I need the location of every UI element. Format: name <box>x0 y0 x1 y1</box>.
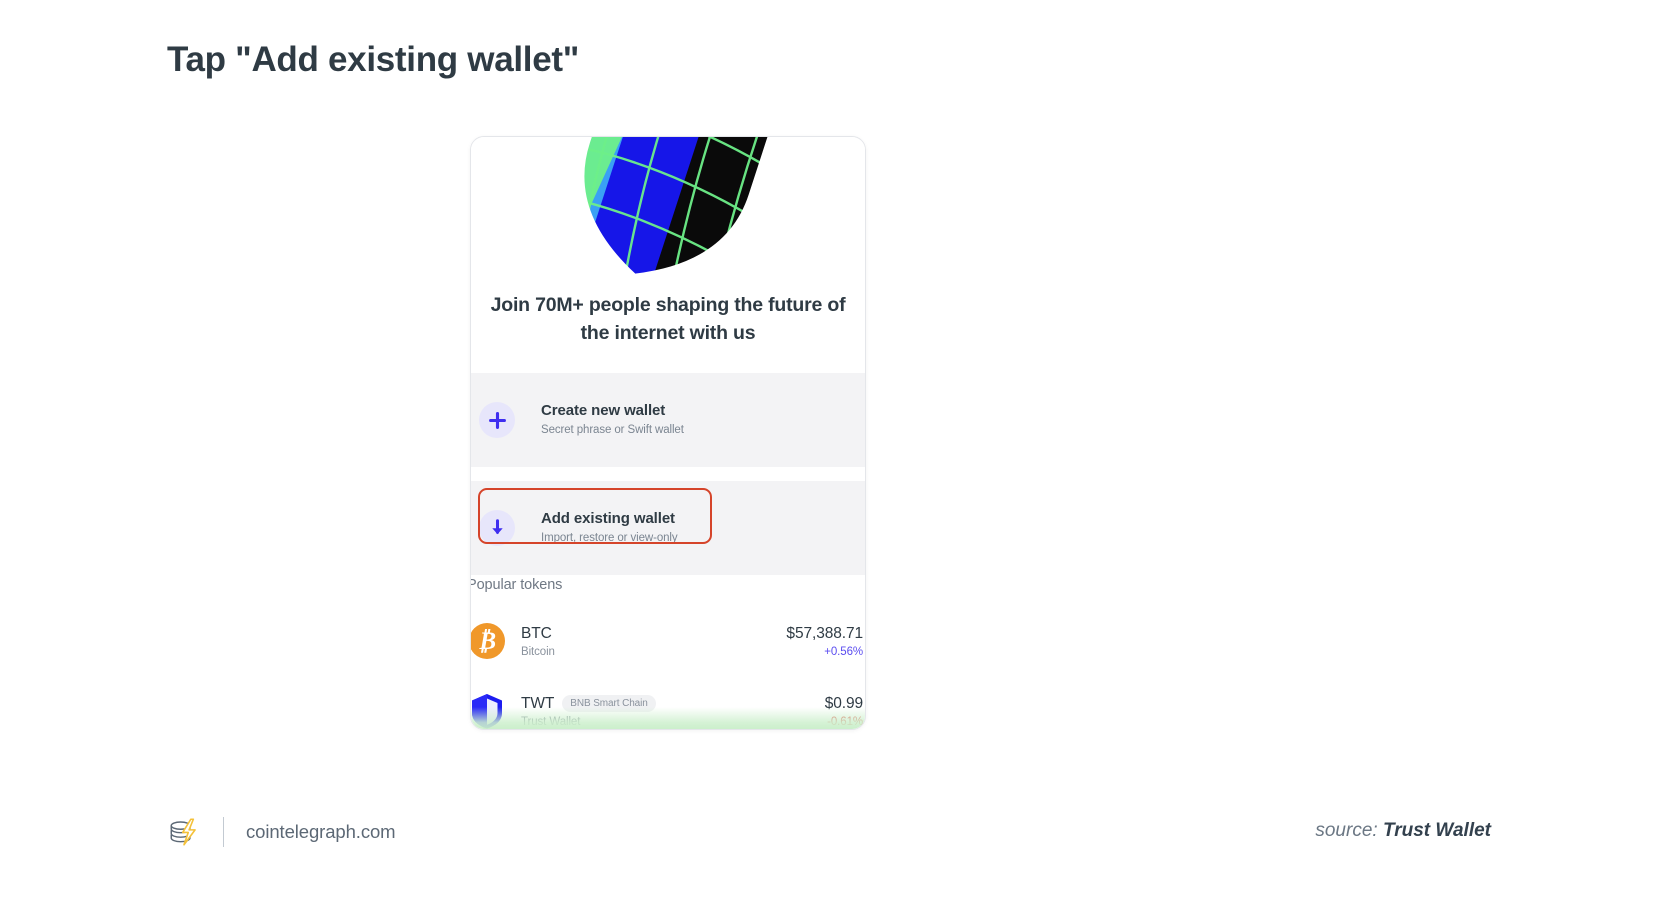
option-add-text: Add existing wallet Import, restore or v… <box>541 510 678 546</box>
bitcoin-icon: ₿ <box>470 623 505 659</box>
download-arrow-icon <box>479 510 515 546</box>
token-btc-main: BTC Bitcoin <box>521 625 786 658</box>
option-add-subtitle: Import, restore or view-only <box>541 530 678 546</box>
popular-tokens-label: Popular tokens <box>470 577 562 593</box>
screenshot-inner: Join 70M+ people shaping the future of t… <box>470 137 866 729</box>
bottom-fade <box>470 707 866 729</box>
footer-left: cointelegraph.com <box>167 815 395 849</box>
screenshot-headline: Join 70M+ people shaping the future of t… <box>489 291 847 347</box>
token-btc-name: Bitcoin <box>521 646 786 658</box>
screenshot-card: Join 70M+ people shaping the future of t… <box>470 136 866 730</box>
page-title: Tap "Add existing wallet" <box>167 40 579 80</box>
option-add-title: Add existing wallet <box>541 510 678 528</box>
footer-divider <box>223 817 224 847</box>
token-btc-change: +0.56% <box>786 646 863 658</box>
hero-art-region <box>470 137 866 283</box>
footer-source: source: Trust Wallet <box>1315 820 1491 842</box>
token-row-btc[interactable]: ₿ BTC Bitcoin $57,388.71 +0.56% <box>470 615 866 667</box>
footer-source-name: Trust Wallet <box>1383 820 1491 841</box>
bitcoin-glyph: ₿ <box>478 629 496 654</box>
footer-source-label: source: <box>1315 820 1377 841</box>
token-btc-price: $57,388.71 <box>786 625 863 643</box>
plus-icon <box>479 402 515 438</box>
option-create-subtitle: Secret phrase or Swift wallet <box>541 422 684 438</box>
token-btc-right: $57,388.71 +0.56% <box>786 625 863 658</box>
option-add-existing-wallet[interactable]: Add existing wallet Import, restore or v… <box>470 497 866 559</box>
option-create-title: Create new wallet <box>541 402 684 420</box>
token-btc-symbol: BTC <box>521 625 552 643</box>
option-create-new-wallet[interactable]: Create new wallet Secret phrase or Swift… <box>470 389 866 451</box>
cointelegraph-logo <box>167 815 201 849</box>
footer-url[interactable]: cointelegraph.com <box>246 821 395 843</box>
option-create-text: Create new wallet Secret phrase or Swift… <box>541 402 684 438</box>
trust-wallet-globe-graphic <box>538 137 804 283</box>
token-btc-symbol-line: BTC <box>521 625 786 643</box>
